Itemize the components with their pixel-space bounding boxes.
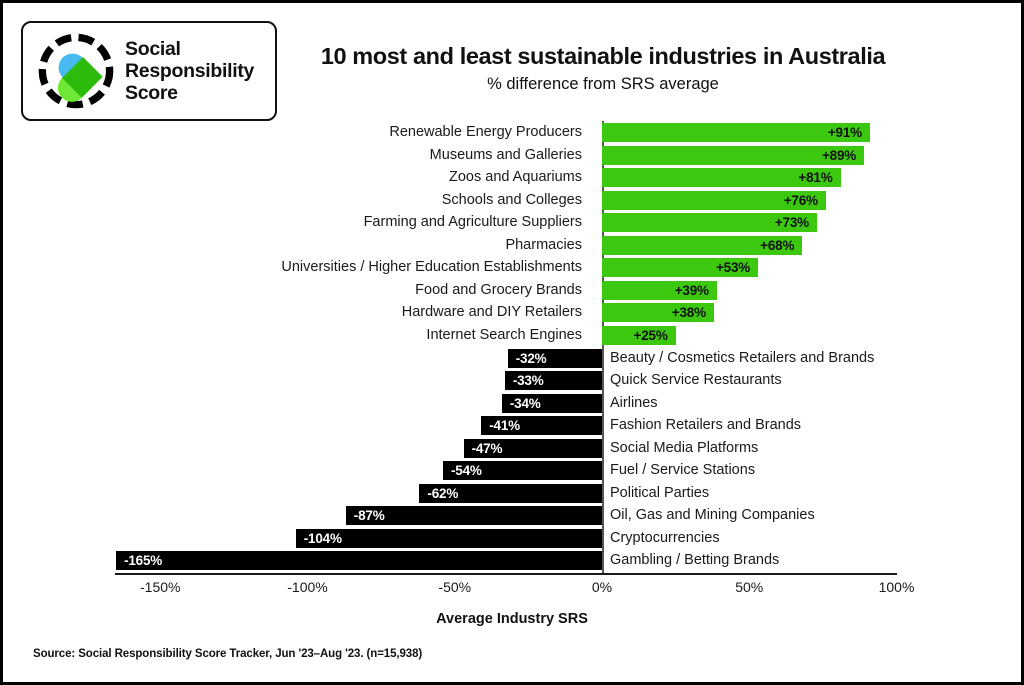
bar-row: Airlines-34% (3, 393, 1021, 416)
bar-category-label: Political Parties (610, 483, 709, 503)
bar-negative (116, 551, 602, 570)
bar-value-label: +76% (772, 192, 818, 209)
bar-category-label: Oil, Gas and Mining Companies (610, 505, 815, 525)
bar-row: Museums and Galleries+89% (3, 145, 1021, 168)
bar-value-label: -104% (304, 530, 342, 547)
bar-category-label: Schools and Colleges (442, 190, 582, 210)
bar-row: Zoos and Aquariums+81% (3, 167, 1021, 190)
bar-row: Food and Grocery Brands+39% (3, 280, 1021, 303)
bar-value-label: +91% (816, 124, 862, 141)
brand-logo-line-1: Social (125, 38, 254, 60)
bar-value-label: -33% (513, 372, 544, 389)
bar-value-label: -87% (354, 507, 385, 524)
page-subtitle: % difference from SRS average (283, 75, 923, 94)
bar-value-label: +68% (748, 237, 794, 254)
bar-value-label: -34% (510, 395, 541, 412)
bar-row: Schools and Colleges+76% (3, 190, 1021, 213)
infographic-page: Social Responsibility Score 10 most and … (0, 0, 1024, 685)
bar-category-label: Museums and Galleries (430, 145, 582, 165)
brand-logo-line-2: Responsibility (125, 60, 254, 82)
bar-value-label: -54% (451, 462, 482, 479)
bar-row: Social Media Platforms-47% (3, 438, 1021, 461)
bar-category-label: Gambling / Betting Brands (610, 550, 779, 570)
bar-category-label: Social Media Platforms (610, 438, 758, 458)
bar-category-label: Zoos and Aquariums (449, 167, 582, 187)
bar-row: Political Parties-62% (3, 483, 1021, 506)
bar-row: Farming and Agriculture Suppliers+73% (3, 212, 1021, 235)
x-axis-line (115, 573, 897, 575)
bar-category-label: Hardware and DIY Retailers (402, 302, 582, 322)
heart-in-dashed-circle-icon (35, 30, 117, 112)
bar-value-label: +81% (787, 169, 833, 186)
bar-category-label: Renewable Energy Producers (389, 122, 582, 142)
bar-value-label: +73% (763, 214, 809, 231)
bar-category-label: Farming and Agriculture Suppliers (364, 212, 582, 232)
bar-value-label: -47% (472, 440, 503, 457)
source-note: Source: Social Responsibility Score Trac… (33, 648, 422, 660)
bar-value-label: -62% (427, 485, 458, 502)
bar-row: Internet Search Engines+25% (3, 325, 1021, 348)
bar-row: Oil, Gas and Mining Companies-87% (3, 505, 1021, 528)
brand-logo-line-3: Score (125, 82, 254, 104)
bar-category-label: Cryptocurrencies (610, 528, 720, 548)
bar-category-label: Quick Service Restaurants (610, 370, 782, 390)
bar-value-label: +89% (810, 147, 856, 164)
bar-category-label: Food and Grocery Brands (415, 280, 582, 300)
brand-logo: Social Responsibility Score (21, 21, 277, 121)
bar-row: Renewable Energy Producers+91% (3, 122, 1021, 145)
bar-value-label: +39% (663, 282, 709, 299)
bar-category-label: Fashion Retailers and Brands (610, 415, 801, 435)
x-axis-title: Average Industry SRS (3, 611, 1021, 627)
bar-row: Fuel / Service Stations-54% (3, 460, 1021, 483)
page-title: 10 most and least sustainable industries… (283, 43, 923, 70)
x-axis-tick-label: 50% (735, 579, 763, 595)
bar-category-label: Universities / Higher Education Establis… (281, 257, 582, 277)
bar-value-label: +38% (660, 304, 706, 321)
bar-category-label: Airlines (610, 393, 658, 413)
brand-logo-text: Social Responsibility Score (125, 38, 254, 104)
bar-row: Cryptocurrencies-104% (3, 528, 1021, 551)
x-axis-tick-label: -50% (438, 579, 471, 595)
bar-value-label: -165% (124, 552, 162, 569)
bar-row: Beauty / Cosmetics Retailers and Brands-… (3, 348, 1021, 371)
bar-category-label: Beauty / Cosmetics Retailers and Brands (610, 348, 874, 368)
bar-row: Gambling / Betting Brands-165% (3, 550, 1021, 573)
bar-chart-plot-area: Renewable Energy Producers+91%Museums an… (3, 121, 1021, 576)
bar-category-label: Pharmacies (505, 235, 582, 255)
bar-value-label: -41% (489, 417, 520, 434)
bar-category-label: Fuel / Service Stations (610, 460, 755, 480)
bar-row: Fashion Retailers and Brands-41% (3, 415, 1021, 438)
bar-row: Pharmacies+68% (3, 235, 1021, 258)
bar-row: Hardware and DIY Retailers+38% (3, 302, 1021, 325)
x-axis-tick-label: 100% (879, 579, 915, 595)
bar-row: Quick Service Restaurants-33% (3, 370, 1021, 393)
x-axis-tick-label: -100% (287, 579, 327, 595)
bar-value-label: +53% (704, 259, 750, 276)
bar-row: Universities / Higher Education Establis… (3, 257, 1021, 280)
x-axis-tick-label: -150% (140, 579, 180, 595)
x-axis-tick-label: 0% (592, 579, 612, 595)
bar-category-label: Internet Search Engines (426, 325, 582, 345)
bar-value-label: -32% (516, 350, 547, 367)
bar-value-label: +25% (622, 327, 668, 344)
